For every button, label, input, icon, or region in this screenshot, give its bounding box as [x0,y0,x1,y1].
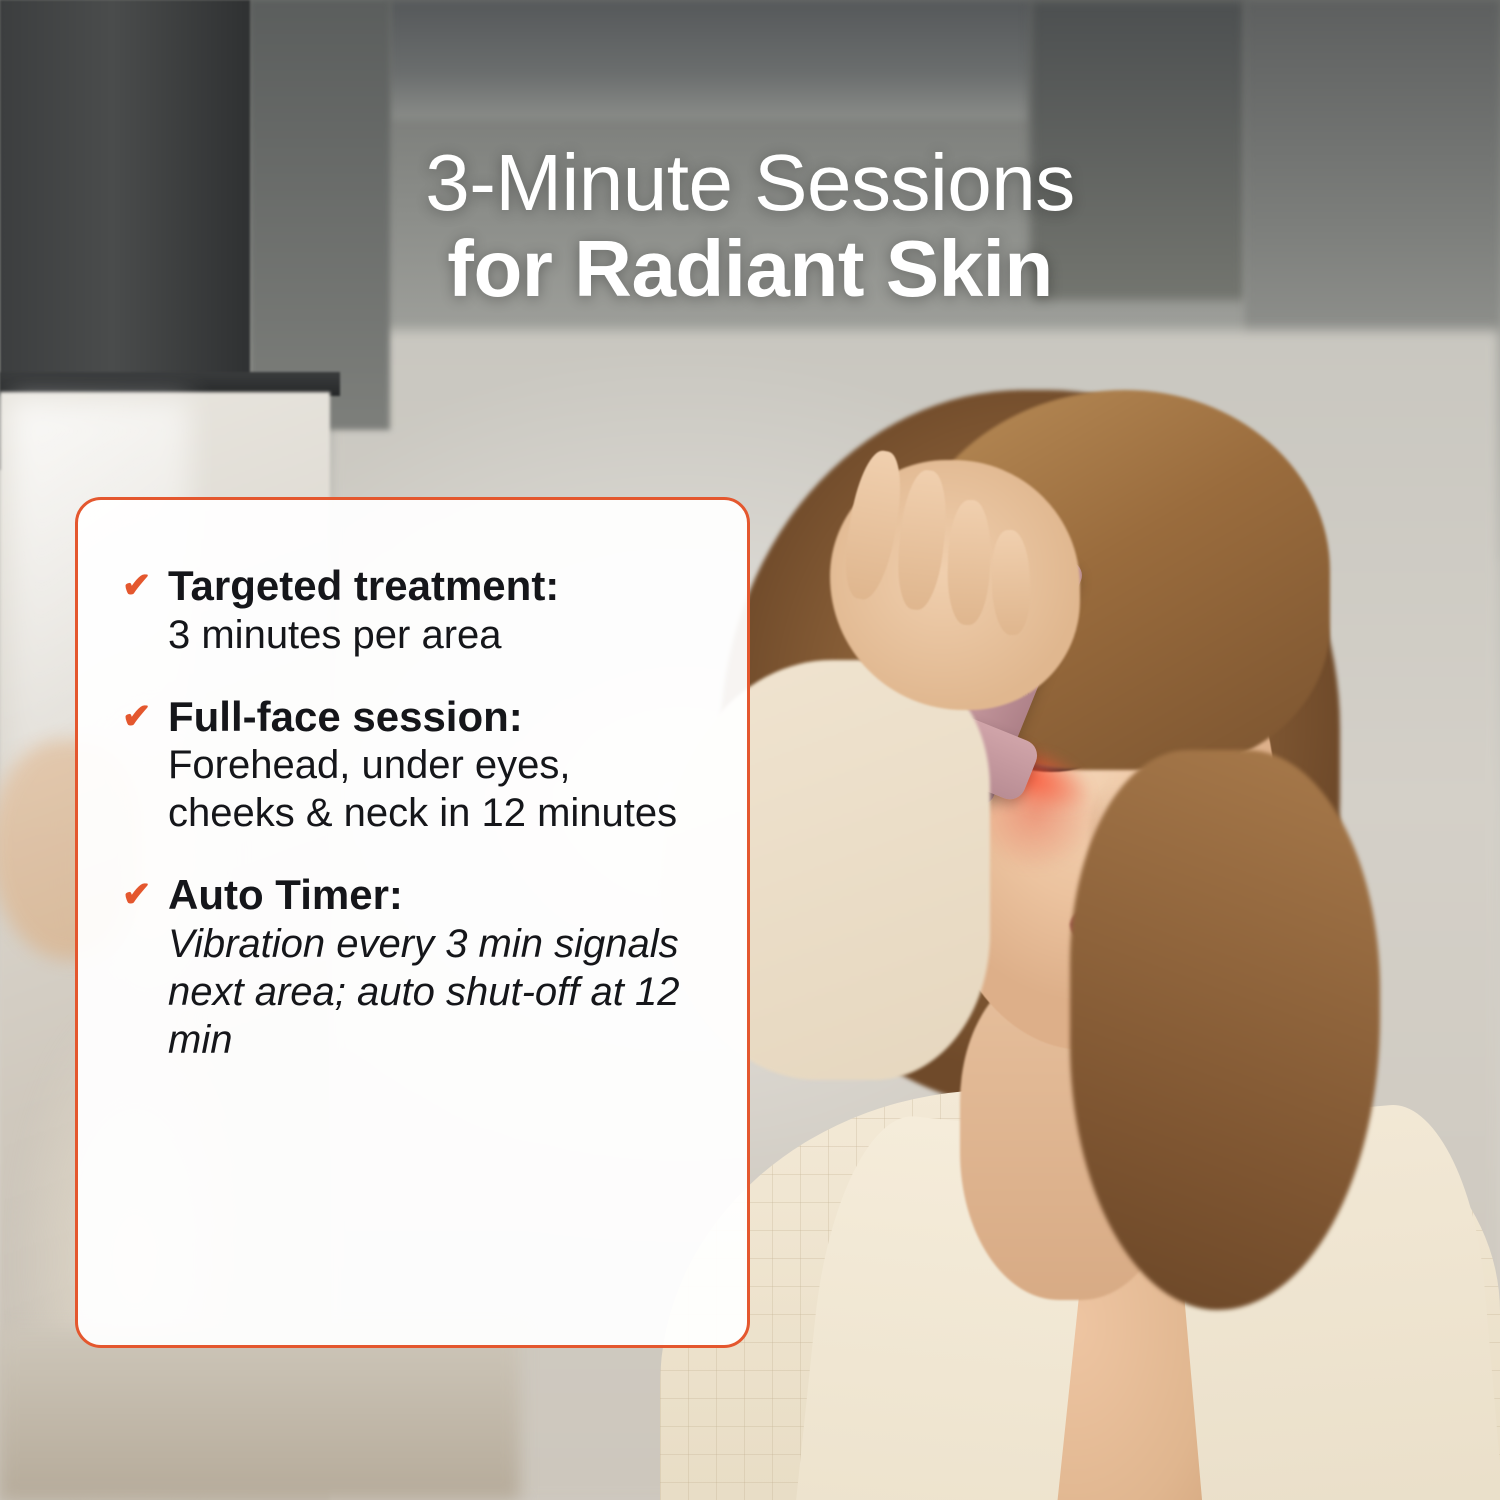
headline: 3-Minute Sessions for Radiant Skin [0,140,1500,313]
feature-item: ✔ Targeted treatment: 3 minutes per area [122,562,703,659]
feature-body: 3 minutes per area [168,611,703,659]
headline-line-2: for Radiant Skin [0,226,1500,312]
feature-item: ✔ Full-face session: Forehead, under eye… [122,693,703,838]
feature-item: ✔ Auto Timer: Vibration every 3 min sign… [122,871,703,1064]
feature-text: Targeted treatment: 3 minutes per area [168,562,703,659]
check-icon: ✔ [122,693,168,838]
feature-card: ✔ Targeted treatment: 3 minutes per area… [75,497,750,1348]
feature-title: Auto Timer: [168,871,703,920]
feature-text: Full-face session: Forehead, under eyes,… [168,693,703,838]
promo-image: SOLAWAVE 3-Minute Sessions for Radiant S… [0,0,1500,1500]
feature-body: Vibration every 3 min signals next area;… [168,920,703,1064]
feature-title: Full-face session: [168,693,703,742]
feature-body: Forehead, under eyes, cheeks & neck in 1… [168,741,703,837]
check-icon: ✔ [122,871,168,1064]
ceiling-panel [390,0,1030,120]
check-icon: ✔ [122,562,168,659]
feature-title: Targeted treatment: [168,562,703,611]
headline-line-1: 3-Minute Sessions [425,138,1075,227]
feature-text: Auto Timer: Vibration every 3 min signal… [168,871,703,1064]
counter-surface [0,1330,520,1500]
